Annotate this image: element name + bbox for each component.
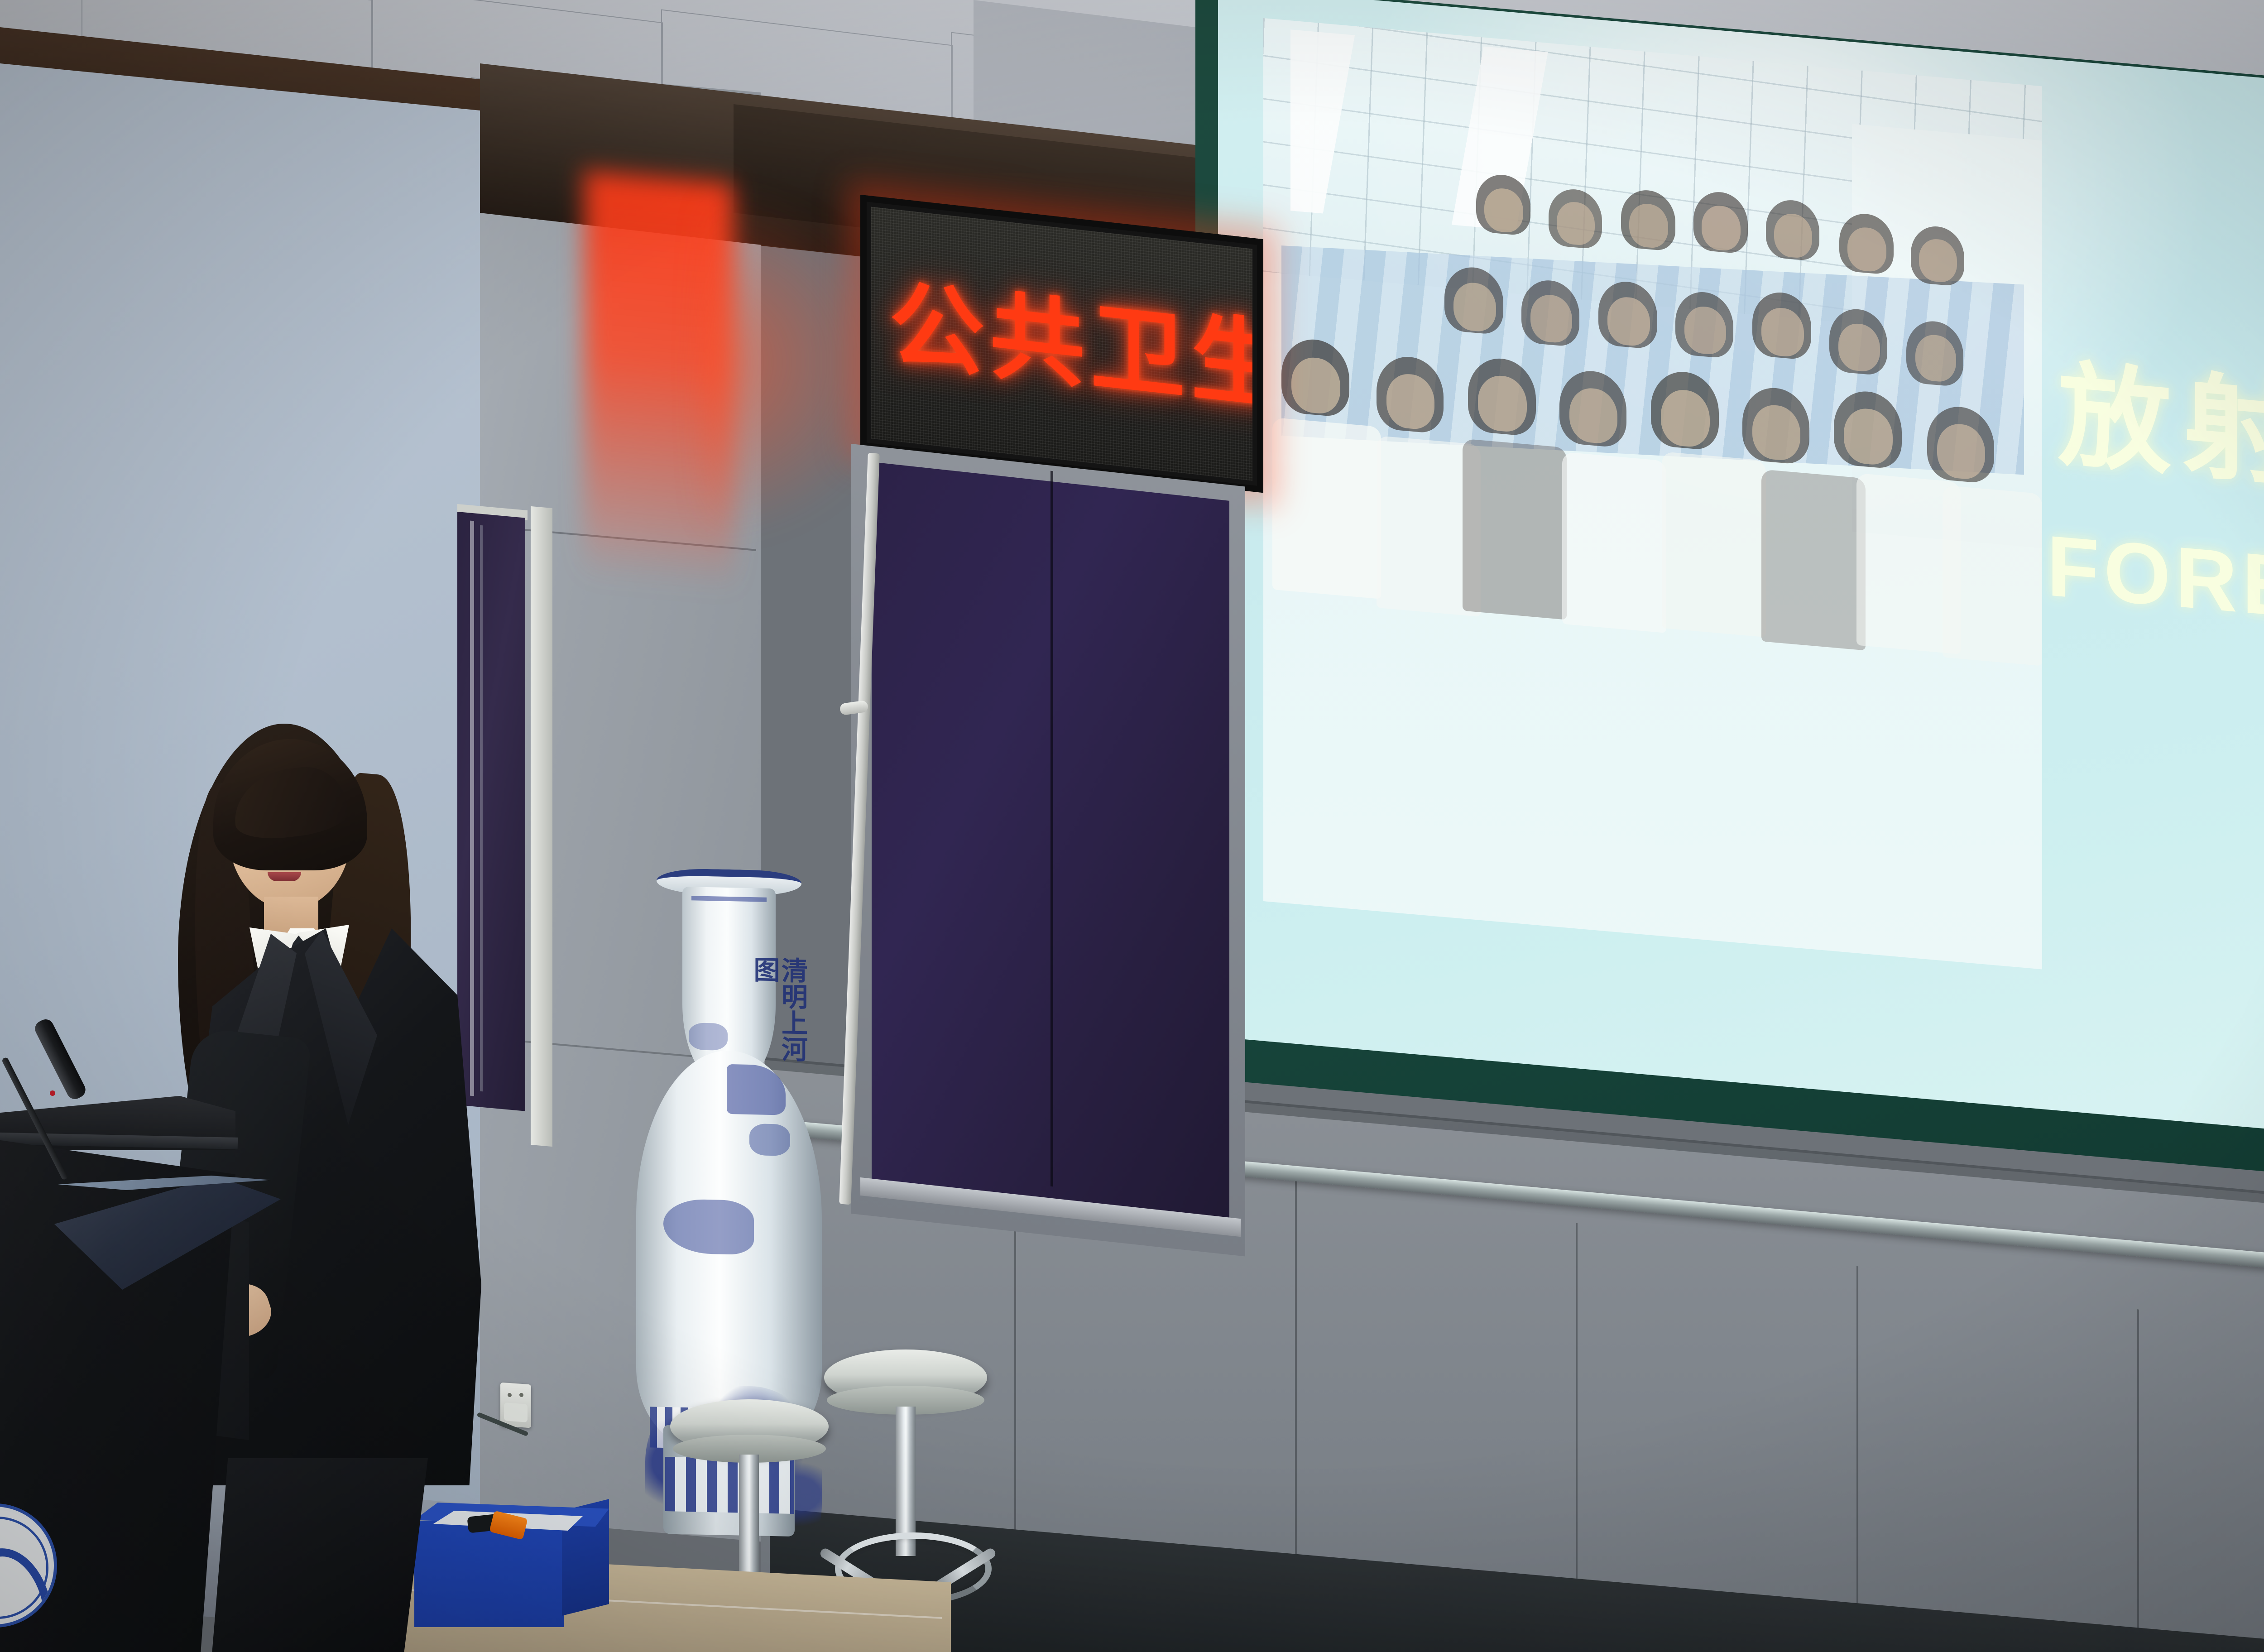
- lectern-podium: PUBLIC HEALTH: [0, 1096, 272, 1652]
- projected-group-photo: [1263, 18, 2042, 969]
- led-panel: 公共卫生学: [871, 207, 1252, 481]
- photo-scene: 放射二班 FOREVER 公共卫生学 清明上河图: [0, 0, 2264, 1652]
- door-center-seam: [1050, 471, 1053, 1187]
- wall-post: [531, 506, 552, 1147]
- vase-body: [636, 1049, 822, 1451]
- led-marquee-sign: 公共卫生学: [860, 195, 1263, 493]
- microphone-indicator-led: [50, 1090, 55, 1096]
- led-sign-text: 公共卫生学: [889, 277, 1252, 428]
- public-health-seal: PUBLIC HEALTH: [0, 1503, 57, 1628]
- seal-text-ring: PUBLIC HEALTH: [0, 1507, 54, 1624]
- mouth: [268, 872, 301, 881]
